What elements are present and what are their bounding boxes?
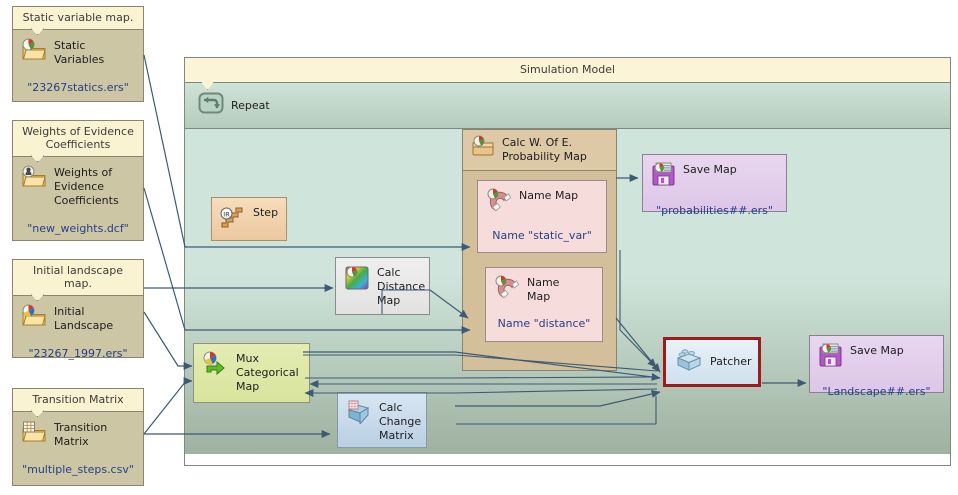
group-transition-matrix-title: Transition Matrix: [13, 389, 143, 412]
node-name-map-distance[interactable]: Name Map Name "distance": [485, 267, 603, 342]
node-calc-change-matrix[interactable]: Calc Change Matrix: [337, 392, 427, 448]
node-name-map-distance-label: Name Map: [527, 275, 559, 304]
node-weights-of-evidence-param: "new_weights.dcf": [21, 222, 135, 235]
node-step-label: Step: [253, 205, 278, 220]
folder-initial-landscape-icon: [21, 304, 47, 332]
node-save-map-probabilities[interactable]: Save Map "probabilities##.ers": [642, 154, 787, 212]
node-static-variables-param: "23267statics.ers": [21, 81, 135, 94]
node-static-variables[interactable]: Static Variables "23267statics.ers": [13, 30, 143, 104]
node-transition-matrix-label: Transition Matrix: [54, 420, 107, 449]
floppy-save-map-icon: [818, 343, 843, 372]
node-name-map-distance-param: Name "distance": [494, 317, 594, 330]
node-initial-landscape-param: "23267_1997.ers": [21, 347, 135, 360]
repeat-loop-icon: [198, 91, 224, 119]
node-step[interactable]: IR Step: [211, 197, 287, 241]
group-initial-landscape-map-title: Initial landscape map.: [13, 260, 143, 296]
group-weights-of-evidence[interactable]: Weights of Evidence Coefficients Weights…: [12, 120, 144, 241]
group-transition-matrix[interactable]: Transition Matrix Transition Matrix "mul…: [12, 388, 144, 486]
node-name-map-static-var[interactable]: Name Map Name "static_var": [477, 180, 607, 253]
node-name-map-static-var-param: Name "static_var": [486, 229, 598, 242]
group-weights-of-evidence-title: Weights of Evidence Coefficients: [13, 121, 143, 157]
node-save-map-probabilities-label: Save Map: [683, 162, 737, 177]
green-arrow-mux-icon: [202, 351, 229, 380]
node-calc-change-matrix-label: Calc Change Matrix: [379, 400, 421, 442]
repeat-band: Repeat: [185, 83, 950, 129]
calc-woe-title: Calc W. Of E. Probability Map: [502, 135, 587, 164]
folder-weights-icon: [21, 165, 47, 193]
container-probability-map-icon: [471, 135, 495, 163]
floppy-save-map-icon: [651, 162, 676, 191]
simulation-model-title: Simulation Model: [185, 58, 950, 83]
node-static-variables-label: Static Variables: [54, 38, 104, 67]
node-mux-categorical-map[interactable]: Mux Categorical Map: [193, 343, 310, 403]
node-save-map-probabilities-param: "probabilities##.ers": [651, 204, 778, 217]
blue-brick-patcher-icon: [674, 346, 704, 378]
node-patcher-label: Patcher: [710, 355, 752, 369]
node-save-map-landscape-label: Save Map: [850, 343, 904, 358]
simulation-model-canvas: IR Step: [185, 129, 950, 454]
node-initial-landscape-label: Initial Landscape: [54, 304, 113, 333]
node-initial-landscape[interactable]: Initial Landscape "23267_1997.ers": [13, 296, 143, 370]
node-weights-of-evidence[interactable]: Weights of Evidence Coefficients "new_we…: [13, 157, 143, 244]
node-name-map-static-var-label: Name Map: [519, 188, 578, 203]
node-calc-distance-map-label: Calc Distance Map: [377, 265, 425, 307]
diagram-canvas: Simulation Model Repeat: [0, 0, 958, 495]
blue-cube-matrix-icon: [346, 400, 372, 428]
node-weights-of-evidence-label: Weights of Evidence Coefficients: [54, 165, 119, 207]
svg-text:IR: IR: [223, 211, 230, 219]
node-transition-matrix[interactable]: Transition Matrix "multiple_steps.csv": [13, 412, 143, 486]
node-patcher[interactable]: Patcher: [663, 337, 761, 387]
magnet-name-map-icon: [494, 275, 520, 303]
stairs-step-icon: IR: [220, 205, 246, 235]
group-initial-landscape-map[interactable]: Initial landscape map. Initial: [12, 259, 144, 358]
folder-transition-matrix-icon: [21, 420, 47, 448]
rainbow-distance-map-icon: [344, 265, 370, 295]
node-calc-woe-probability-map[interactable]: Calc W. Of E. Probability Map: [462, 129, 617, 371]
folder-static-variables-icon: [21, 38, 47, 66]
node-save-map-landscape[interactable]: Save Map "Landscape##.ers": [809, 335, 944, 393]
group-static-variable-map[interactable]: Static variable map. Static Variables: [12, 6, 144, 102]
simulation-model-container[interactable]: Simulation Model Repeat: [184, 57, 951, 466]
node-transition-matrix-param: "multiple_steps.csv": [21, 463, 135, 476]
magnet-name-map-icon: [486, 188, 512, 216]
calc-woe-title-bar: Calc W. Of E. Probability Map: [463, 130, 616, 171]
node-calc-distance-map[interactable]: Calc Distance Map: [335, 257, 430, 315]
repeat-node[interactable]: Repeat: [185, 83, 950, 119]
node-save-map-landscape-param: "Landscape##.ers": [818, 385, 935, 398]
repeat-label: Repeat: [231, 98, 270, 113]
node-mux-categorical-map-label: Mux Categorical Map: [236, 351, 299, 393]
group-static-variable-map-title: Static variable map.: [13, 7, 143, 30]
